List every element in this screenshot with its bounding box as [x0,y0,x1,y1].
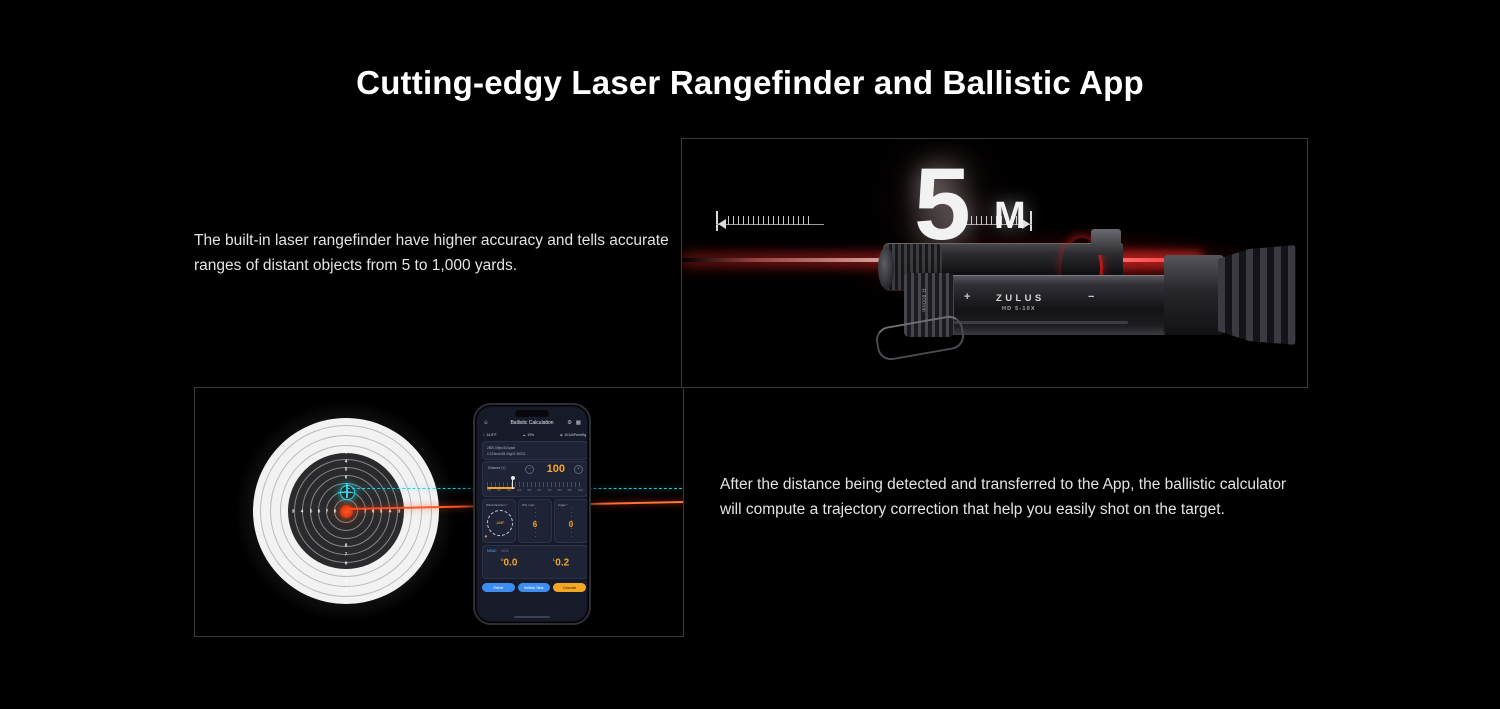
thermometer-icon: ☃ [482,433,485,437]
target-number-bot-6: 6 [345,561,348,566]
target-number-right-4: 4 [389,509,392,514]
device-eyecup [1218,245,1296,345]
target-number-right-7: 7 [364,509,367,514]
tab-mrad[interactable]: MRAD [487,549,496,553]
tick-label-2: 200 [497,489,501,492]
distance-plus-button[interactable]: + [574,465,583,474]
target-number-left-1: 1 [274,509,277,514]
target-number-top-1: 1 [345,430,348,435]
wind-direction-value: -120° [496,521,505,525]
device-wrist-strap [874,314,967,363]
result-elevation-value: 0.0 [503,557,517,568]
target-number-right-6: 6 [372,509,375,514]
target-number-top-3: 3 [345,450,348,455]
star-icon: ✷ [484,534,488,540]
app-action-buttons: Reticle Ballistic Table Calculate [482,583,586,592]
gear-icon[interactable]: ⚙ [567,420,572,426]
target-number-bot-4: 4 [345,579,348,584]
tick-label-4: 400 [517,489,521,492]
target-number-left-6: 6 [318,509,321,514]
stat-pressure: ◉ 1014hPa/mHg [560,433,586,437]
target-number-top-6: 6 [345,475,348,480]
target-number-bot-5: 5 [345,570,348,575]
measure-arrow-left [716,211,824,233]
tick-label-3: 300 [507,489,511,492]
angle-value: 0 [555,520,587,529]
device-body-seam [938,321,1128,324]
target-number-left-8: 8 [334,509,337,514]
tick-label-1: 100 [487,489,491,492]
page-title: Cutting-edgy Laser Rangefinder and Balli… [0,64,1500,102]
profile-icon[interactable]: ☺ [483,420,489,426]
ballistic-app-image-panel: 1 2 3 4 5 6 8 7 6 5 4 3 1 2 3 4 5 6 7 8 … [194,387,684,637]
distance-value: 100 [547,464,565,475]
rangefinder-description: The built-in laser rangefinder have high… [194,228,674,278]
device-brand-label: ZULUS [996,293,1045,304]
reticle-button[interactable]: Reticle [482,583,515,592]
device-lens-spec-label: R.800nm [920,289,926,312]
target-number-right-1: 1 [416,509,419,514]
app-screen-title: Ballistic Calculation [510,420,553,426]
target-number-top-2: 2 [345,440,348,445]
distance-card[interactable]: Distance (Y) − 100 + 100 200 300 400 [482,461,587,497]
stat-pressure-value: 1014hPa/mHg [564,433,586,437]
ballistic-table-button[interactable]: Ballistic Table [518,583,551,592]
phone-home-indicator [514,616,550,618]
rangefinder-image-panel: 5 M ZULUS HD 5-10X + − R.800nm [681,138,1308,388]
result-elevation: U0.0 [483,557,535,568]
stat-temperature: ☃ 24.5°F [482,433,497,437]
device-objective-lens [878,247,894,289]
distance-slider-handle[interactable] [512,478,513,489]
profile-row-2: 0.224inch/45.00gr/0.300G1 [487,452,526,456]
calculate-button[interactable]: Calculate [553,583,586,592]
angle-label: Angle ° [558,503,568,507]
target-number-top-4: 4 [345,459,348,464]
impact-point-marker [340,505,353,518]
wind-direction-label: Wind Direction ° [486,503,508,507]
phone-mockup: ☺ Ballistic Calculation ⚙ ▦ ☃ 24.5°F ☁ 1… [473,403,591,625]
target-number-bot-8: 8 [345,543,348,548]
angle-card[interactable]: Angle ° 0 [554,499,587,543]
environment-stats: ☃ 24.5°F ☁ 19% ◉ 1014hPa/mHg [482,433,586,437]
device-model-label: HD 5-10X [1002,306,1036,312]
stat-humidity-value: 19% [527,433,534,437]
device-minus-button[interactable]: − [1088,291,1094,303]
compass-icon: ◉ [560,433,563,437]
humidity-icon: ☁ [522,433,525,437]
target-number-left-3: 3 [292,509,295,514]
result-windage: L0.2 [535,557,587,568]
tab-moa[interactable]: MOA [501,549,508,553]
distance-minus-button[interactable]: − [525,465,534,474]
target-number-left-4: 4 [301,509,304,514]
wind-speed-value: 6 [519,520,551,529]
stat-temperature-value: 24.5°F [487,433,497,437]
ballistic-app-description: After the distance being detected and tr… [720,472,1300,522]
device-mount [1091,229,1121,255]
unit-tabs[interactable]: MRAD MOA [487,549,509,553]
grid-icon[interactable]: ▦ [576,420,581,426]
wind-direction-card[interactable]: Wind Direction ° -120° ✷ [482,499,516,543]
profile-row-1: 2800.00fps/100yard [487,446,515,450]
distance-label: Distance (Y) [488,466,506,470]
tick-label-7: 700 [547,489,551,492]
tick-label-6: 600 [537,489,541,492]
distance-slider-labels: 100 200 300 400 500 600 700 800 900 1000 [487,489,583,492]
target-number-top-5: 5 [345,467,348,472]
target-number-right-2: 2 [407,509,410,514]
profile-card[interactable]: 2800.00fps/100yard 0.224inch/45.00gr/0.3… [482,441,587,460]
target-number-right-5: 5 [380,509,383,514]
rangefinder-scene: 5 M ZULUS HD 5-10X + − R.800nm [682,139,1307,387]
wind-direction-dial[interactable]: -120° [487,510,513,536]
result-card: MRAD MOA U0.0 L0.2 [482,545,587,579]
distance-slider[interactable]: 100 200 300 400 500 600 700 800 900 1000 [487,479,583,493]
tick-label-9: 900 [568,489,572,492]
stat-humidity: ☁ 19% [522,433,534,437]
result-windage-value: 0.2 [555,557,569,568]
target-number-bot-7: 7 [345,552,348,557]
measure-ticks-left [728,216,812,225]
device-eyepiece [1164,255,1224,335]
wind-speed-label: WS, mph [522,503,534,507]
tick-label-10: 1000 [578,489,583,492]
device-plus-button[interactable]: + [964,291,970,303]
shooting-target: 1 2 3 4 5 6 8 7 6 5 4 3 1 2 3 4 5 6 7 8 … [253,418,439,604]
target-number-left-5: 5 [310,509,313,514]
wind-speed-card[interactable]: WS, mph 6 [518,499,552,543]
page-background: Cutting-edgy Laser Rangefinder and Balli… [0,0,1500,709]
target-number-left-7: 7 [326,509,329,514]
target-number-bot-3: 3 [345,588,348,593]
phone-notch [515,410,549,417]
arrow-left-icon [718,219,726,229]
target-number-right-3: 3 [398,509,401,514]
target-number-left-2: 2 [283,509,286,514]
tick-label-5: 500 [527,489,531,492]
rangefinder-device: ZULUS HD 5-10X + − R.800nm [878,217,1308,367]
phone-screen: ☺ Ballistic Calculation ⚙ ▦ ☃ 24.5°F ☁ 1… [477,407,587,621]
result-values: U0.0 L0.2 [483,557,587,568]
tick-label-8: 800 [557,489,561,492]
